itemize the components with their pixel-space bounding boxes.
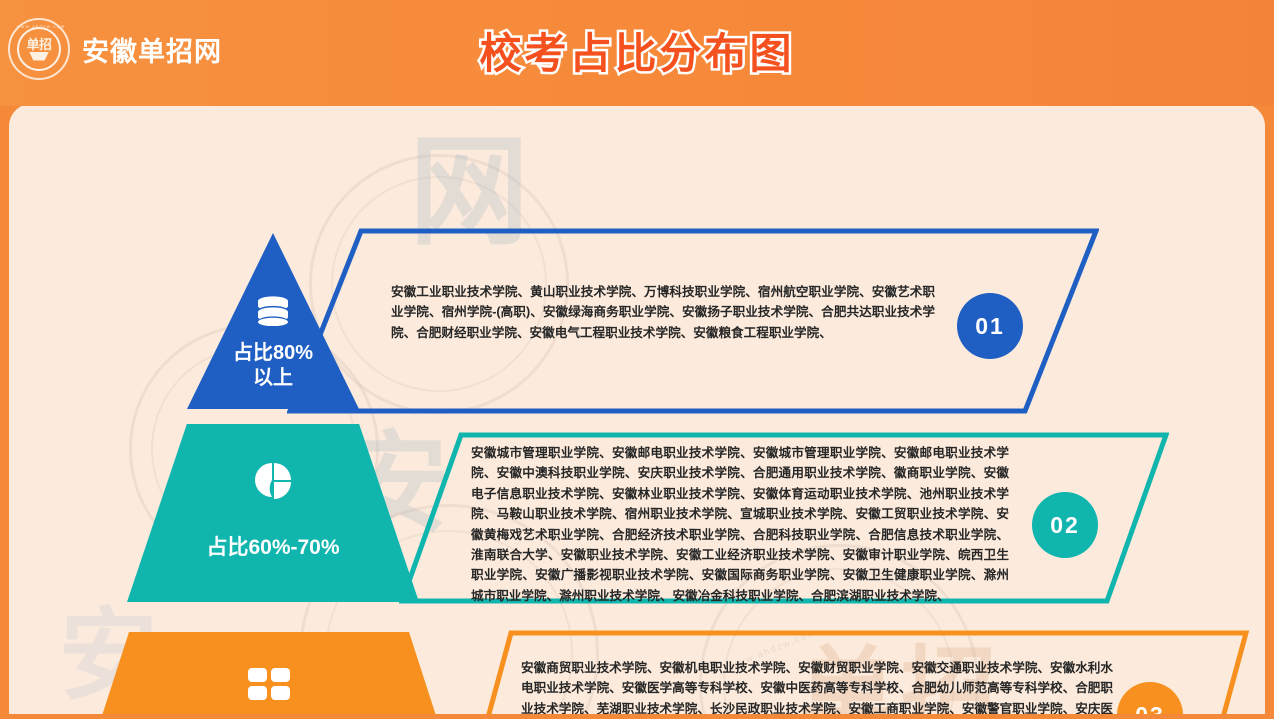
pyramid-tier-01[interactable]: 占比80% 以上 — [187, 233, 359, 409]
pyramid-tier-02[interactable]: 占比60%-70% — [127, 424, 419, 602]
grid-squares-icon — [247, 667, 291, 706]
database-stack-icon — [254, 296, 292, 331]
pyramid-tier-03[interactable]: 占比50% — [69, 632, 469, 714]
tier-02-label: 占比60%-70% — [206, 535, 339, 561]
content-card: 网 安 www.ahdzw.com www.ahdzw.com 单招 安 安徽工… — [9, 104, 1265, 714]
tier-01-label: 占比80% 以上 — [233, 341, 313, 391]
tier-02-shape: 占比60%-70% — [127, 424, 419, 602]
panel-text-02: 安徽城市管理职业学院、安徽邮电职业技术学院、安徽城市管理职业学院、安徽邮电职业技… — [471, 443, 1009, 606]
panel-text-01: 安徽工业职业技术学院、黄山职业技术学院、万博科技职业学院、宿州航空职业学院、安徽… — [391, 282, 935, 343]
tier-03-shape: 占比50% — [69, 632, 469, 714]
tier-01-label-line2: 以上 — [233, 366, 313, 391]
tier-01-shape: 占比80% 以上 — [187, 233, 359, 409]
page-title: 校考占比分布图 — [0, 20, 1274, 81]
tier-01-label-line1: 占比80% — [233, 341, 313, 366]
badge-01: 01 — [957, 293, 1023, 359]
page-header: www.ahdzw.com 单招 安徽单招网 校考占比分布图 — [0, 0, 1274, 106]
panel-text-03: 安徽商贸职业技术学院、安徽机电职业技术学院、安徽财贸职业学院、安徽交通职业技术学… — [521, 658, 1113, 714]
badge-02: 02 — [1032, 492, 1098, 558]
pie-chart-icon — [252, 460, 294, 507]
